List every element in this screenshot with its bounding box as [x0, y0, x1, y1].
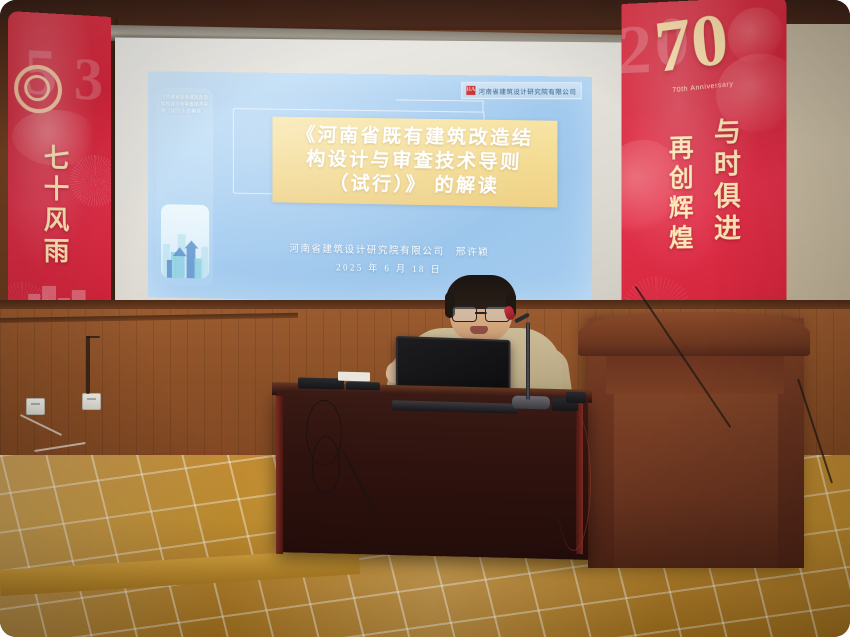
banner-left-ghost-number-2: 3	[74, 45, 103, 115]
left-red-banner: 5 3 七十风雨	[8, 11, 111, 320]
slide-byline-date: 2025 年 6 月 18 日	[225, 258, 555, 278]
logo-text: 河南省建筑设计研究院有限公司	[479, 85, 577, 95]
microphone-stem	[526, 322, 530, 400]
banner-right-vertical-text-right: 与时俱进	[706, 117, 745, 258]
banner-right-flower-icon-3	[728, 6, 784, 65]
company-logo: HA 河南省建筑设计研究院有限公司	[462, 82, 582, 99]
power-outlet-2	[82, 393, 101, 410]
slide-byline: 河南省建筑设计研究院有限公司 邢许颖 2025 年 6 月 18 日	[225, 239, 555, 278]
banner-left-burst-icon	[70, 154, 111, 207]
lectern-top-surface	[578, 312, 810, 356]
banner-left-vertical-text: 七十风雨	[36, 143, 73, 274]
banner-right-flower-icon-1	[716, 52, 787, 134]
banner-left-flower-icon	[12, 108, 101, 167]
slide-title-line-3: （试行）》 的解读	[329, 173, 500, 198]
slide-title-line-2: 构设计与审查技术导则	[306, 149, 523, 175]
banner-right-flower-icon-2	[622, 139, 685, 236]
slide-sidebar-panel: 《河南省既有建筑改造结构设计与审查技术导则（试行）》的解读	[156, 87, 213, 286]
banner-right-ghost-number-1: 2	[622, 10, 652, 91]
banner-right-ghost-number-2: 0	[655, 3, 689, 84]
presentation-slide: HA 河南省建筑设计研究院有限公司 《河南省既有建筑改造结构设计与审查技术导则（…	[148, 71, 592, 307]
slide-title-plate: 《河南省既有建筑改造结 构设计与审查技术导则 （试行）》 的解读	[272, 117, 557, 208]
wall-conduit-horizontal	[86, 336, 100, 338]
desk-plug-block	[566, 392, 586, 403]
slide-sidebar-title: 《河南省既有建筑改造结构设计与审查技术导则（试行）》的解读	[161, 93, 210, 115]
logo-mark-icon: HA	[467, 86, 476, 95]
banner-right-vertical-text-left: 再创辉煌	[661, 134, 696, 270]
right-red-banner: 2 0 70 70th Anniversary 与时俱进 再创辉煌	[622, 0, 787, 330]
desk-left-edge	[276, 396, 283, 554]
banner-left-ghost-number-1: 5	[24, 34, 57, 112]
desk-device-2	[346, 382, 380, 391]
desk-cable-loop-2	[312, 436, 340, 494]
banner-right-anniversary-number: 70	[652, 2, 731, 85]
power-outlet-1	[26, 398, 45, 415]
desk-cable-red-right	[556, 410, 591, 551]
slide-outline-stem	[482, 101, 483, 113]
banner-right-anniversary-label: 70th Anniversary	[672, 81, 734, 95]
eyeglass-lens-left	[452, 306, 477, 322]
slide-title-line-1: 《河南省既有建筑改造结	[295, 125, 533, 151]
wall-conduit	[86, 336, 90, 394]
slide-byline-organization: 河南省建筑设计研究院有限公司 邢许颖	[225, 239, 555, 260]
city-skyline-illustration	[161, 204, 209, 278]
slide-outline-connector	[396, 99, 483, 101]
desk-paper	[338, 372, 370, 382]
lectern-body	[614, 394, 778, 568]
presenter-mouth	[470, 326, 488, 334]
banner-left-ring-icon	[14, 64, 62, 114]
banner-left-ring-inner-icon	[24, 74, 50, 101]
presentation-photo: HA 河南省建筑设计研究院有限公司 《河南省既有建筑改造结构设计与审查技术导则（…	[0, 0, 850, 637]
microphone-base	[512, 396, 550, 410]
eyeglasses-icon	[452, 306, 510, 320]
